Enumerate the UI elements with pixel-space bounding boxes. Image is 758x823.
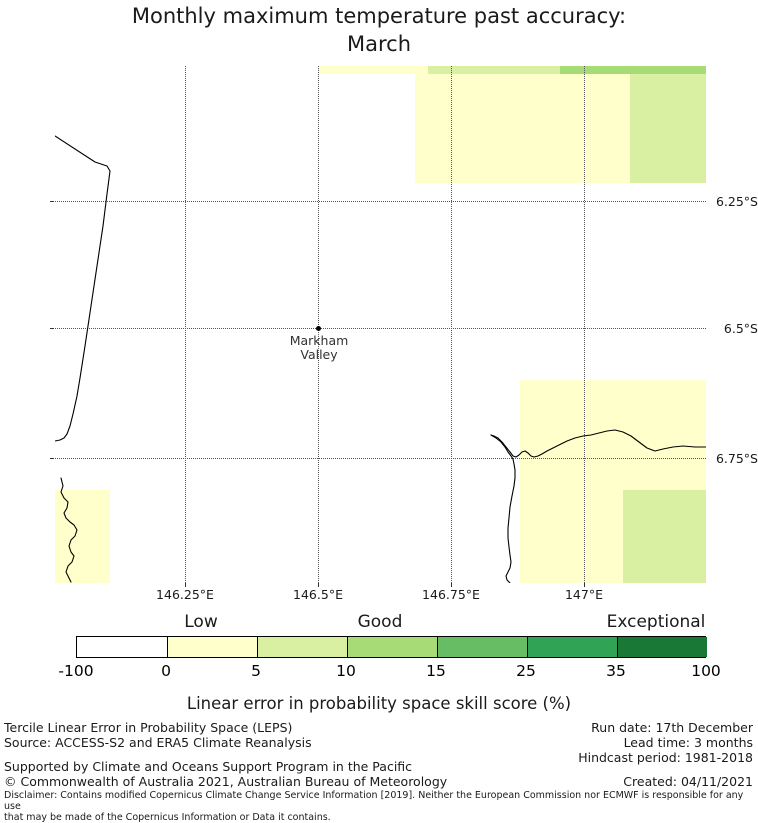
footer-disclaimer-line-1: Disclaimer: Contains modified Copernicus… [4,790,752,812]
x-axis-tick-label: 146.25°E [125,588,245,602]
title-line-1: Monthly maximum temperature past accurac… [0,2,758,30]
footer-created-block: Created: 04/11/2021 [623,774,753,789]
colorbar-tick-label: 100 [661,661,751,681]
colorbar-segment [167,637,257,657]
footer-lead-time: Lead time: 3 months [578,735,753,750]
colorbar-category-row: Low Good Exceptional [0,611,758,633]
colorbar-segment [257,637,347,657]
x-axis-tick-mark [318,583,319,587]
colorbar-category-label: Exceptional [596,611,716,633]
footer-support-block: Supported by Climate and Oceans Support … [4,759,447,789]
colorbar-segment [527,637,617,657]
map-clip-region [55,66,706,583]
colorbar-tick-label: 25 [481,661,571,681]
y-axis-tick-mark [50,201,54,202]
map-plot-area: Markham Valley [55,66,706,583]
colorbar-segment [77,637,167,657]
y-axis-tick-mark [50,328,54,329]
x-axis-tick-label: 146.75°E [391,588,511,602]
colorbar-category-label: Low [156,611,246,633]
x-axis-tick-label: 147°E [524,588,644,602]
city-label-line-2: Valley [254,348,384,362]
footer-copyright-line: © Commonwealth of Australia 2021, Austra… [4,774,447,789]
colorbar-divider [347,637,348,657]
footer-run-info-block: Run date: 17th December Lead time: 3 mon… [578,720,753,765]
title-line-2: March [0,30,758,58]
y-axis-tick-mark [50,458,54,459]
colorbar-divider [527,637,528,657]
footer-created-date: Created: 04/11/2021 [623,774,753,789]
footer-method-block: Tercile Linear Error in Probability Spac… [4,720,312,750]
colorbar-divider [167,637,168,657]
colorbar-divider [257,637,258,657]
colorbar-tick-row: -100 0 5 10 15 25 35 100 [0,661,758,681]
footer-disclaimer-line-2: that may be made of the Copernicus Infor… [4,812,752,823]
x-axis-tick-label: 146.5°E [258,588,378,602]
coastline-overlay [55,66,706,583]
y-axis-tick-label: 6.75°S [706,452,758,465]
colorbar-category-label: Good [335,611,425,633]
city-label-line-1: Markham [254,334,384,348]
x-axis-tick-mark [584,583,585,587]
y-axis-tick-label: 6.5°S [706,322,758,335]
x-axis-tick-mark [185,583,186,587]
footer-hindcast-period: Hindcast period: 1981-2018 [578,750,753,765]
colorbar-axis-label: Linear error in probability space skill … [0,694,758,713]
colorbar-tick-label: 15 [391,661,481,681]
footer-source-line: Source: ACCESS-S2 and ERA5 Climate Reana… [4,735,312,750]
y-axis-tick-label: 6.25°S [706,195,758,208]
footer-disclaimer: Disclaimer: Contains modified Copernicus… [4,790,752,823]
colorbar-segment [347,637,437,657]
x-axis-tick-mark [451,583,452,587]
colorbar-tick-label: 5 [211,661,301,681]
footer-run-date: Run date: 17th December [578,720,753,735]
colorbar-tick-label: 35 [571,661,661,681]
colorbar-tick-label: -100 [31,661,121,681]
city-label-markham-valley: Markham Valley [254,334,384,362]
colorbar-divider [617,637,618,657]
footer-method-line-1: Tercile Linear Error in Probability Spac… [4,720,312,735]
page-title: Monthly maximum temperature past accurac… [0,2,758,58]
colorbar [76,636,706,658]
colorbar-segment [617,637,707,657]
colorbar-segment [437,637,527,657]
colorbar-tick-label: 10 [301,661,391,681]
city-marker-markham-valley [316,326,321,331]
colorbar-tick-label: 0 [121,661,211,681]
colorbar-divider [437,637,438,657]
footer-support-line: Supported by Climate and Oceans Support … [4,759,447,774]
